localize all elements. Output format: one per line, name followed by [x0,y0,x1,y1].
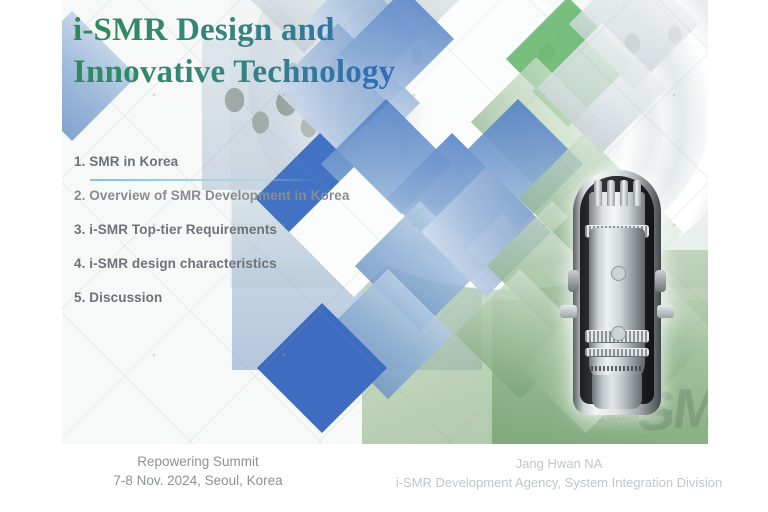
reactor-lower-head [592,375,642,409]
agenda-item-1-wrapper: 1. SMR in Korea [74,154,494,169]
slide-screenshot: SMR Small Modular Reactor [0,0,768,512]
slide-title-line-2: Innovative Technology [73,52,493,94]
agenda-item-5[interactable]: 5. Discussion [74,290,494,305]
footer-event-info: Repowering Summit 7-8 Nov. 2024, Seoul, … [78,452,318,490]
control-rod-icon [620,180,628,206]
agenda-item-3[interactable]: 3. i-SMR Top-tier Requirements [74,222,494,237]
slide-title: i-SMR Design and Innovative Technology [73,10,493,93]
agenda-list: 1. SMR in Korea 2. Overview of SMR Devel… [74,154,494,324]
control-rod-icon [607,180,615,206]
presentation-slide: SMR Small Modular Reactor [62,0,708,444]
reactor-nozzle-right [657,305,674,318]
footer-presenter-info: Jang Hwan NA i-SMR Development Agency, S… [350,455,768,493]
agenda-active-underline [90,179,318,181]
reactor-port-upper [611,266,626,281]
footer-affiliation: i-SMR Development Agency, System Integra… [350,474,768,493]
reactor-flange-lower [585,348,649,357]
reactor-pressure-vessel [589,228,645,383]
control-rod-icon [594,180,602,206]
control-rod-icon [633,180,641,206]
agenda-item-2[interactable]: 2. Overview of SMR Development in Korea [74,188,494,203]
footer-event-date-place: 7-8 Nov. 2024, Seoul, Korea [78,471,318,490]
smr-reactor-illustration [567,170,667,415]
reactor-port-lower [611,326,626,341]
reactor-weld-seam [591,366,643,371]
slide-title-line-1: i-SMR Design and [73,10,493,52]
agenda-item-4[interactable]: 4. i-SMR design characteristics [74,256,494,271]
reactor-support-lug-right [655,270,666,292]
agenda-item-1[interactable]: 1. SMR in Korea [74,154,494,169]
reactor-nozzle-left [560,305,577,318]
footer-event-name: Repowering Summit [78,452,318,471]
footer-presenter-name: Jang Hwan NA [350,455,768,474]
reactor-support-lug-left [568,270,579,292]
